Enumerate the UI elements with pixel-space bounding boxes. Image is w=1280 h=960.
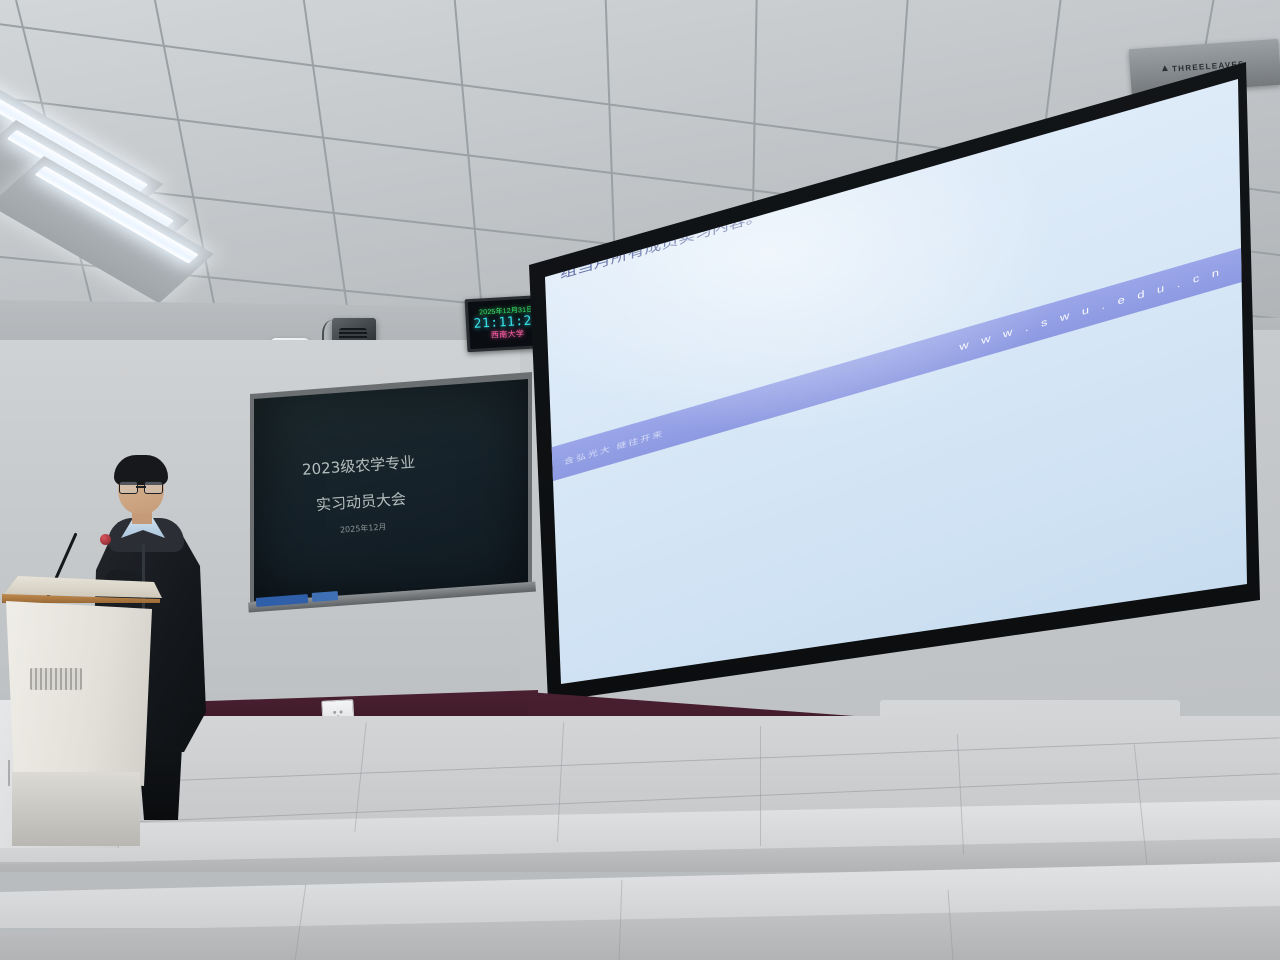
- classroom-scene: ▲ THREELEAVES 2025年12月31日 21:11:23 西南大学 …: [0, 0, 1280, 960]
- microphone-head-icon: [100, 534, 111, 545]
- presenter-glasses-icon: [119, 481, 163, 492]
- slide-footer: 含弘光大 继往开来 w w w . s w u . e d u . c n: [546, 248, 1241, 483]
- blackboard: 2023级农学专业 实习动员大会 2025年12月: [254, 377, 528, 601]
- podium-base: [12, 772, 140, 846]
- university-motto: 含弘光大 继往开来: [564, 426, 664, 467]
- presentation-slide: Shadow Mode 西南大学 SOUTHWEST UNIVERSITY 2.…: [542, 62, 1242, 483]
- floor-tile-line: [760, 726, 761, 846]
- slide-text-1: 实习期间各个时间段每个实习单位为1个实习小组。: [593, 73, 985, 202]
- chalk-box: [312, 591, 339, 602]
- blackboard-line-3: 2025年12月: [340, 521, 387, 535]
- podium-top: [4, 576, 162, 598]
- slide-text-3: ，以PPT形式提交（实习组长根据实际情况安排）。: [580, 80, 1043, 229]
- podium-vent: [30, 668, 82, 690]
- blackboard-line-1: 2023级农学专业: [301, 451, 415, 480]
- blackboard-line-2: 实习动员大会: [315, 488, 406, 515]
- podium: [0, 576, 168, 846]
- slide-text-2: 各实习小组每月提交一次实习报告: [559, 62, 1226, 235]
- university-website-url: w w w . s w u . e d u . c n: [959, 264, 1223, 352]
- podium-body: [0, 601, 156, 786]
- slide-text-6: “实习单位批次-月份-实习报告”: [841, 91, 1088, 178]
- projector-screen: Shadow Mode 西南大学 SOUTHWEST UNIVERSITY 2.…: [519, 62, 1260, 702]
